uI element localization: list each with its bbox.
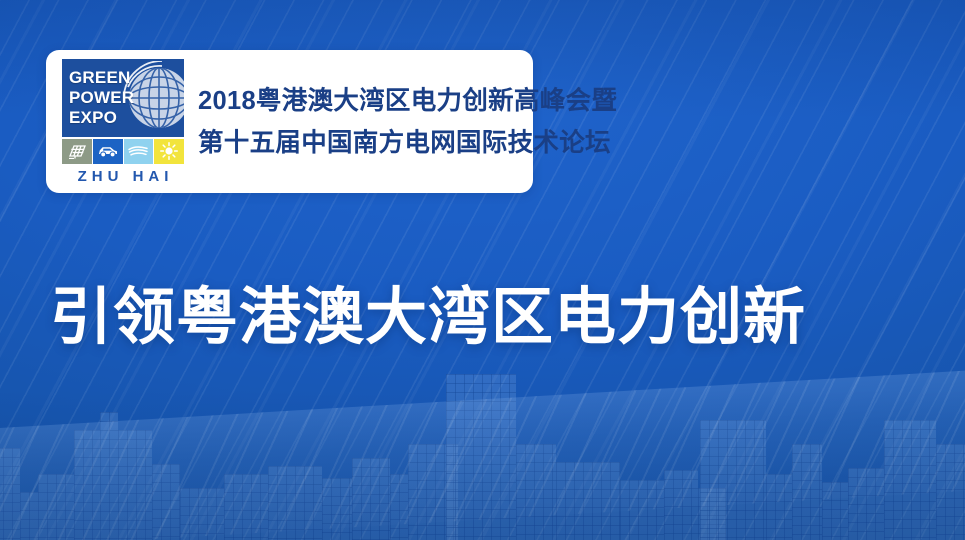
event-title-line-2: 第十五届中国南方电网国际技术论坛 (198, 129, 617, 157)
logo-wordmark: GREEN POWER EXPO (62, 68, 134, 128)
logo-word-green: GREEN (69, 68, 134, 88)
event-title-line-1: 2018粤港澳大湾区电力创新高峰会暨 (198, 87, 617, 115)
logo-word-expo: EXPO (69, 108, 134, 128)
event-title-text: 2018粤港澳大湾区电力创新高峰会暨 第十五届中国南方电网国际技术论坛 (196, 87, 617, 157)
car-icon (93, 139, 124, 164)
solar-panel-icon (62, 139, 93, 164)
logo-main-block: GREEN POWER EXPO (62, 59, 184, 137)
event-title-card: GREEN POWER EXPO (46, 50, 533, 193)
sun-icon (154, 139, 184, 164)
event-banner: GREEN POWER EXPO (0, 0, 965, 540)
logo-word-power: POWER (69, 88, 134, 108)
logo-icon-strip (62, 139, 184, 164)
logo-city-label: ZHU HAI (62, 168, 184, 185)
wind-icon (124, 139, 155, 164)
green-power-expo-logo: GREEN POWER EXPO (62, 59, 184, 185)
banner-headline: 引领粤港澳大湾区电力创新 (50, 281, 920, 355)
